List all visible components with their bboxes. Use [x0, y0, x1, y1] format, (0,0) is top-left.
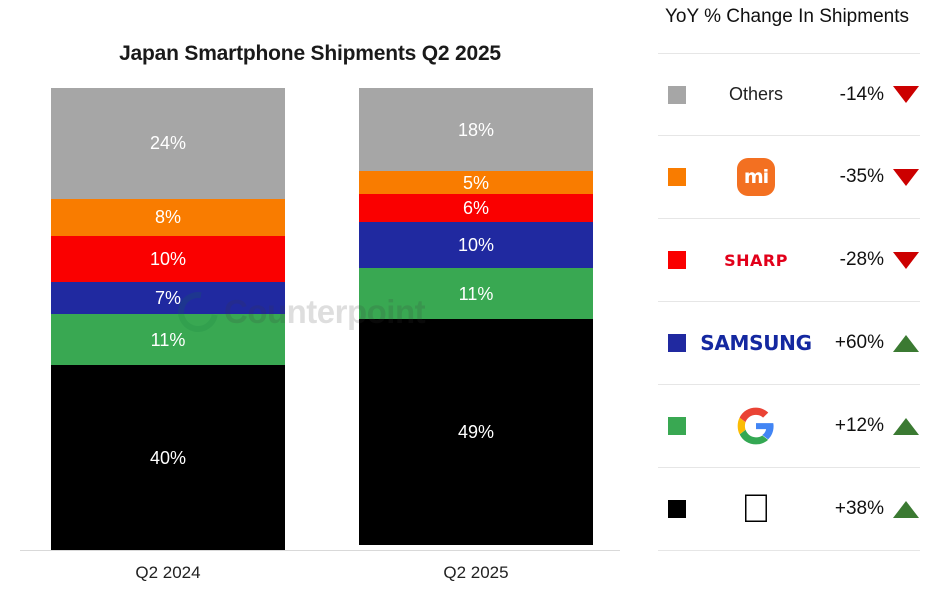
- triangle-down-icon: [892, 252, 920, 269]
- legend-row[interactable]: SAMSUNG+60%: [658, 302, 920, 385]
- legend-color-swatch: [668, 168, 686, 186]
- xiaomi-logo-icon: mi: [737, 158, 775, 196]
- bar-segment-label: 18%: [458, 121, 494, 139]
- x-axis-tick-label: Q2 2024: [51, 563, 285, 583]
- legend-brand: mi: [686, 136, 826, 218]
- bar-segment: 8%: [51, 199, 285, 236]
- bar-segment-label: 10%: [458, 236, 494, 254]
- triangle-up-icon: [892, 501, 920, 518]
- stacked-bar: 24%8%10%7%11%40%: [51, 88, 285, 550]
- legend-brand-label: Others: [729, 84, 783, 105]
- legend-color-swatch: [668, 500, 686, 518]
- legend-brand: [686, 385, 826, 467]
- legend-change-value: +60%: [826, 332, 884, 354]
- bar-column-q2-2024: 24%8%10%7%11%40%: [51, 88, 285, 550]
- legend-row[interactable]: +12%: [658, 385, 920, 468]
- bar-segment-label: 6%: [463, 199, 489, 217]
- triangle-up-icon: [892, 335, 920, 352]
- legend-row[interactable]: Others-14%: [658, 53, 920, 136]
- legend-title: YoY % Change In Shipments: [640, 6, 934, 28]
- bar-segment-label: 11%: [151, 331, 186, 349]
- x-axis-line: [20, 550, 620, 551]
- triangle-down-icon: [892, 86, 920, 103]
- bar-segment-label: 40%: [150, 449, 186, 467]
- sharp-logo-icon: SHARP: [724, 251, 788, 270]
- bar-segment: 7%: [51, 282, 285, 314]
- legend-change-value: +12%: [826, 415, 884, 437]
- triangle-down-icon: [892, 169, 920, 186]
- bar-segment-label: 8%: [155, 208, 181, 226]
- legend-color-swatch: [668, 251, 686, 269]
- stacked-bar: 18%5%6%10%11%49%: [359, 88, 593, 550]
- bar-segment: 18%: [359, 88, 593, 171]
- legend-brand: Others: [686, 54, 826, 135]
- legend-change-value: -28%: [826, 249, 884, 271]
- bar-segment: 10%: [359, 222, 593, 268]
- bar-segment: 24%: [51, 88, 285, 199]
- bar-column-q2-2025: 18%5%6%10%11%49%: [359, 88, 593, 550]
- legend-row[interactable]: +38%: [658, 468, 920, 551]
- chart-panel: Japan Smartphone Shipments Q2 2025 24%8%…: [0, 0, 640, 595]
- chart-screenshot: Japan Smartphone Shipments Q2 2025 24%8%…: [0, 0, 934, 595]
- plot-area: 24%8%10%7%11%40% 18%5%6%10%11%49%: [0, 88, 640, 550]
- bar-segment: 5%: [359, 171, 593, 194]
- triangle-up-icon: [892, 418, 920, 435]
- bar-segment: 11%: [359, 268, 593, 319]
- chart-title: Japan Smartphone Shipments Q2 2025: [0, 42, 620, 66]
- legend-brand: SHARP: [686, 219, 826, 301]
- legend-color-swatch: [668, 86, 686, 104]
- legend-color-swatch: [668, 334, 686, 352]
- bar-segment-label: 24%: [150, 134, 186, 152]
- legend-change-value: -14%: [826, 84, 884, 106]
- samsung-logo-icon: SAMSUNG: [700, 331, 811, 355]
- legend-row[interactable]: mi-35%: [658, 136, 920, 219]
- bar-segment-label: 49%: [458, 423, 494, 441]
- legend-brand: : [686, 468, 826, 550]
- legend-change-value: +38%: [826, 498, 884, 520]
- legend-rows: Others-14%mi-35%SHARP-28%SAMSUNG+60%+12%…: [658, 53, 920, 551]
- legend-change-value: -35%: [826, 166, 884, 188]
- bar-segment-label: 10%: [150, 250, 186, 268]
- bar-segment: 11%: [51, 314, 285, 365]
- bar-segment: 6%: [359, 194, 593, 222]
- google-logo-icon: [736, 406, 776, 446]
- legend-color-swatch: [668, 417, 686, 435]
- bar-segment-label: 5%: [463, 174, 489, 192]
- legend-panel: YoY % Change In Shipments Others-14%mi-3…: [640, 0, 934, 595]
- legend-row[interactable]: SHARP-28%: [658, 219, 920, 302]
- bar-segment: 10%: [51, 236, 285, 282]
- bar-segment: 49%: [359, 319, 593, 545]
- bar-segment-label: 11%: [459, 285, 494, 303]
- x-axis-tick-label: Q2 2025: [359, 563, 593, 583]
- apple-logo-icon: : [741, 491, 771, 527]
- bar-segment: 40%: [51, 365, 285, 550]
- legend-brand: SAMSUNG: [686, 302, 826, 384]
- bar-segment-label: 7%: [155, 289, 181, 307]
